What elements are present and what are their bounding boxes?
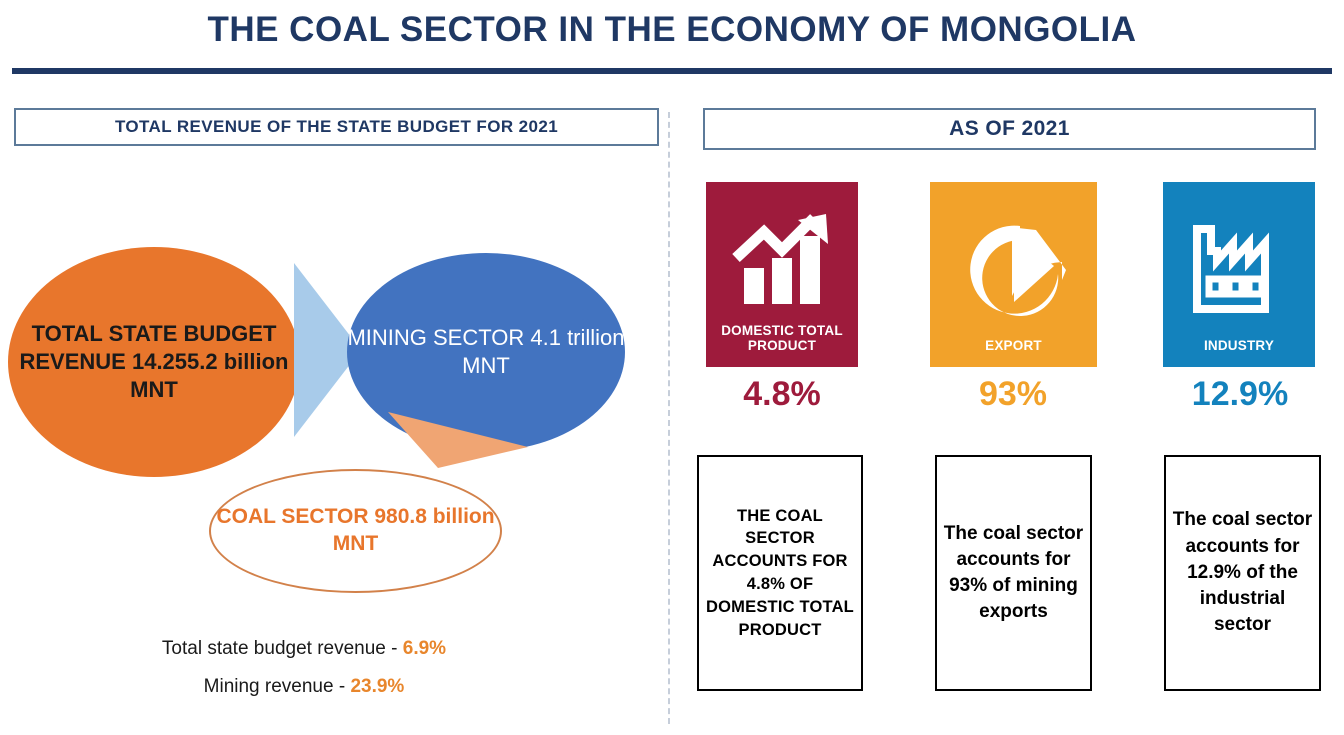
tile-caption-0: DOMESTIC TOTAL PRODUCT <box>706 323 858 367</box>
percent-export: 93% <box>928 375 1098 414</box>
tile-export: EXPORT <box>930 182 1097 367</box>
arrow-down-right-icon <box>376 402 546 482</box>
percent-domestic-total-product: 4.8% <box>697 375 867 414</box>
statement-box-export: The coal sector accounts for 93% of mini… <box>935 455 1092 691</box>
growth-chart-icon <box>730 198 834 323</box>
percent-industry: 12.9% <box>1155 375 1325 414</box>
note-mining-share: Mining revenue - 23.9% <box>24 676 584 698</box>
title-divider-rule <box>12 68 1332 74</box>
coal-sector-ellipse: COAL SECTOR 980.8 billion MNT <box>209 469 502 593</box>
share-export-arrow-icon <box>962 198 1066 338</box>
note-label-2: Mining revenue - <box>204 676 351 697</box>
infographic-root: THE COAL SECTOR IN THE ECONOMY OF MONGOL… <box>0 0 1344 735</box>
note-label-1: Total state budget revenue - <box>162 638 403 659</box>
statement-box-domestic-total-product: THE COAL SECTOR ACCOUNTS FOR 4.8% OF DOM… <box>697 455 863 691</box>
tile-caption-1: EXPORT <box>930 338 1097 367</box>
tile-industry: INDUSTRY <box>1163 182 1315 367</box>
factory-icon <box>1189 198 1289 338</box>
left-panel-header: TOTAL REVENUE OF THE STATE BUDGET FOR 20… <box>14 108 659 146</box>
total-budget-ellipse: TOTAL STATE BUDGET REVENUE 14.255.2 bill… <box>8 247 300 477</box>
tile-domestic-total-product: DOMESTIC TOTAL PRODUCT <box>706 182 858 367</box>
page-title: THE COAL SECTOR IN THE ECONOMY OF MONGOL… <box>0 10 1344 50</box>
note-value-2: 23.9% <box>350 676 404 697</box>
tile-caption-2: INDUSTRY <box>1163 338 1315 367</box>
note-value-1: 6.9% <box>403 638 446 659</box>
right-panel-header: AS OF 2021 <box>703 108 1316 150</box>
statement-box-industry: The coal sector accounts for 12.9% of th… <box>1164 455 1321 691</box>
note-total-budget-share: Total state budget revenue - 6.9% <box>24 638 584 660</box>
panel-divider <box>668 112 670 724</box>
